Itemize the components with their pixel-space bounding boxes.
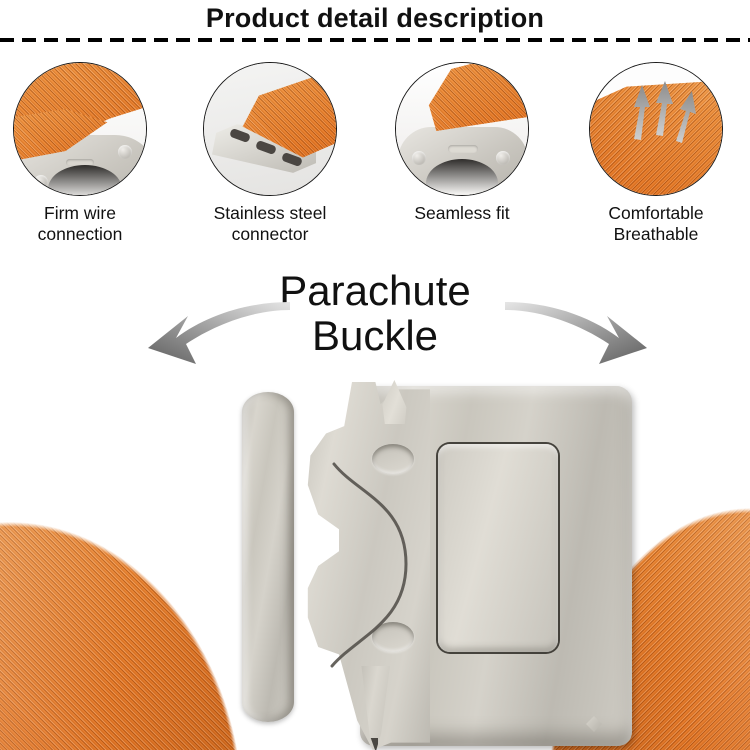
parachute-buckle (238, 382, 634, 750)
buckle-keeper-bar (242, 392, 294, 722)
caption-line-1: Seamless fit (372, 203, 552, 224)
product-photo (0, 380, 750, 750)
feature-caption-seamless-fit: Seamless fit (368, 203, 556, 224)
feature-stainless-steel-connector[interactable]: Stainless steel connector (176, 62, 364, 244)
feature-list: Firm wire connection Stainless steel con… (0, 62, 750, 252)
product-detail-page: Product detail description Firm wire (0, 0, 750, 750)
caption-line-2: Breathable (566, 224, 746, 245)
caption-line-2: connector (180, 224, 360, 245)
dashed-divider (0, 38, 750, 42)
feature-firm-wire-connection[interactable]: Firm wire connection (0, 62, 174, 244)
feature-seamless-fit[interactable]: Seamless fit (368, 62, 556, 224)
buckle-hole-upper (372, 444, 414, 474)
buckle-hole-lower (372, 622, 414, 652)
breathability-arrows-icon (590, 63, 722, 195)
feature-caption-comfortable-breathable: Comfortable Breathable (562, 203, 750, 244)
feature-image-firm-wire-connection (13, 62, 147, 196)
caption-line-1: Firm wire (0, 203, 170, 224)
buckle-release-button[interactable] (438, 444, 558, 652)
curved-arrow-left-icon (140, 296, 290, 366)
feature-caption-firm-wire-connection: Firm wire connection (0, 203, 174, 244)
feature-image-seamless-fit (395, 62, 529, 196)
feature-comfortable-breathable[interactable]: Comfortable Breathable (562, 62, 750, 244)
caption-line-2: connection (0, 224, 170, 245)
caption-line-1: Stainless steel (180, 203, 360, 224)
feature-image-stainless-steel-connector (203, 62, 337, 196)
curved-arrow-right-icon (505, 296, 655, 366)
caption-line-1: Comfortable (566, 203, 746, 224)
page-title: Product detail description (0, 3, 750, 34)
feature-image-comfortable-breathable (589, 62, 723, 196)
feature-caption-stainless-steel-connector: Stainless steel connector (176, 203, 364, 244)
